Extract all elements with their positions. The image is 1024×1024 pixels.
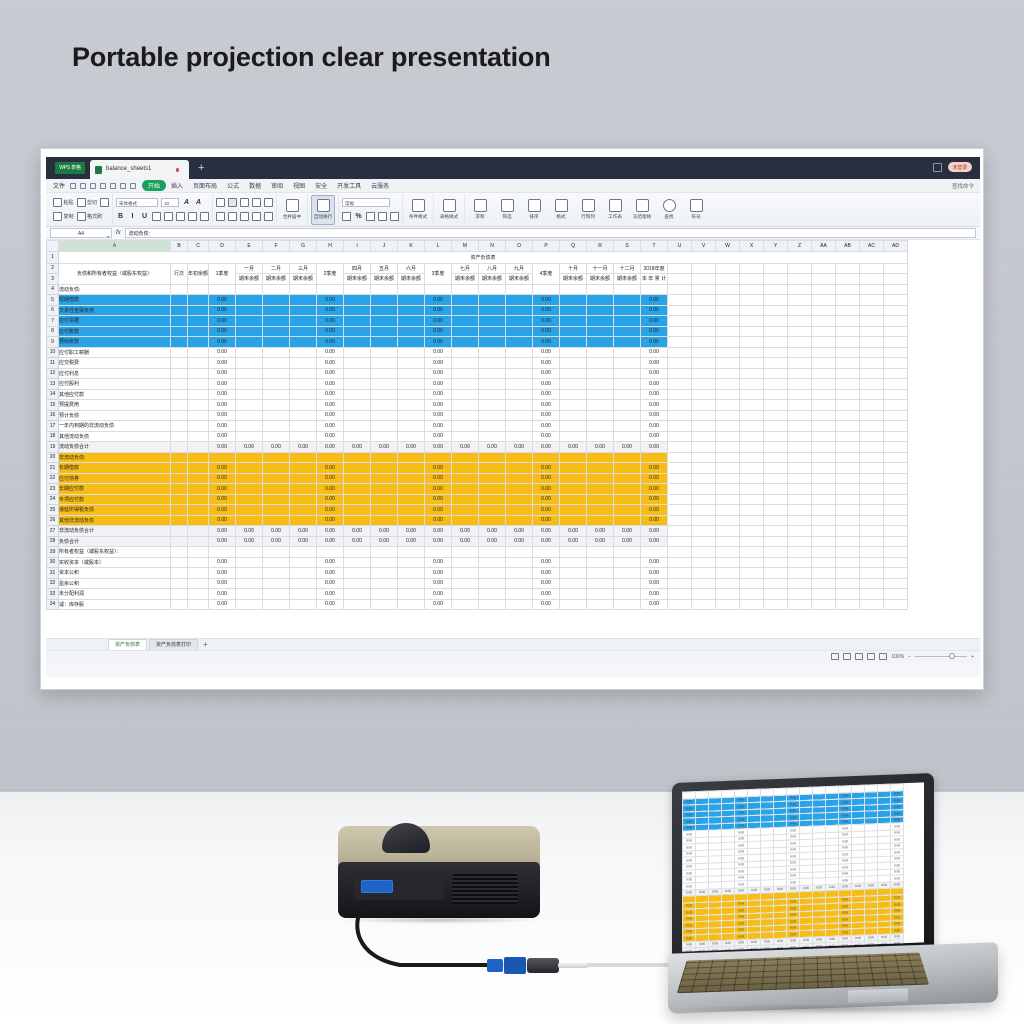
month-value-cell[interactable] <box>236 568 263 579</box>
quarter-value-cell[interactable]: 0.00 <box>533 568 560 579</box>
month-value-cell[interactable] <box>479 515 506 526</box>
empty-cell[interactable] <box>836 557 860 568</box>
month-value-cell[interactable] <box>560 295 587 306</box>
month-value-cell[interactable] <box>344 326 371 337</box>
quarter-value-cell[interactable]: 0.00 <box>533 316 560 327</box>
empty-cell[interactable] <box>716 515 740 526</box>
month-value-cell[interactable] <box>263 316 290 327</box>
menu-page-layout[interactable]: 页面布局 <box>188 181 222 190</box>
opening-balance-cell[interactable] <box>188 578 209 589</box>
empty-cell[interactable] <box>812 326 836 337</box>
month-value-cell[interactable] <box>614 599 641 610</box>
empty-cell[interactable] <box>740 463 764 474</box>
header-period-end[interactable]: 期末余额 <box>344 274 371 285</box>
month-value-cell[interactable] <box>371 547 398 558</box>
line-no-cell[interactable] <box>171 589 188 600</box>
month-value-cell[interactable] <box>398 347 425 358</box>
month-value-cell[interactable]: 0.00 <box>344 526 371 537</box>
quarter-value-cell[interactable]: 0.00 <box>209 484 236 495</box>
month-value-cell[interactable] <box>290 494 317 505</box>
empty-cell[interactable] <box>812 379 836 390</box>
empty-cell[interactable] <box>716 347 740 358</box>
quarter-value-cell[interactable]: 0.00 <box>425 505 452 516</box>
empty-cell[interactable] <box>716 337 740 348</box>
empty-cell[interactable] <box>692 400 716 411</box>
row-label[interactable]: 应付股利 <box>59 379 171 390</box>
header-quarter[interactable]: 2季度 <box>317 263 344 284</box>
row-label[interactable]: 短期借款 <box>59 295 171 306</box>
empty-cell[interactable] <box>764 494 788 505</box>
quarter-value-cell[interactable]: 0.00 <box>209 589 236 600</box>
month-value-cell[interactable] <box>371 379 398 390</box>
month-value-cell[interactable] <box>614 358 641 369</box>
quarter-value-cell[interactable]: 0.00 <box>209 568 236 579</box>
year-total-cell[interactable]: 0.00 <box>641 431 668 442</box>
month-value-cell[interactable] <box>506 473 533 484</box>
font-size-input[interactable]: 10 <box>161 198 179 207</box>
empty-cell[interactable] <box>812 515 836 526</box>
empty-cell[interactable] <box>884 599 908 610</box>
row-header-15[interactable]: 15 <box>47 400 59 411</box>
row-label[interactable]: 交易性金融负债 <box>59 305 171 316</box>
opening-balance-cell[interactable] <box>188 316 209 327</box>
row-label[interactable]: 其他非流动负债 <box>59 515 171 526</box>
empty-cell[interactable] <box>668 484 692 495</box>
empty-cell[interactable] <box>740 400 764 411</box>
empty-cell[interactable] <box>764 284 788 295</box>
empty-cell[interactable] <box>812 400 836 411</box>
empty-cell[interactable] <box>788 536 812 547</box>
opening-balance-cell[interactable] <box>188 463 209 474</box>
header-liabilities[interactable]: 负债和所有者权益（或股东权益） <box>59 263 171 284</box>
empty-cell[interactable] <box>836 337 860 348</box>
month-value-cell[interactable] <box>587 547 614 558</box>
format-button[interactable]: 格式 <box>549 195 573 225</box>
row-header-5[interactable]: 5 <box>47 295 59 306</box>
empty-cell[interactable] <box>812 494 836 505</box>
month-value-cell[interactable] <box>614 316 641 327</box>
empty-cell[interactable] <box>764 337 788 348</box>
quarter-value-cell[interactable]: 0.00 <box>209 473 236 484</box>
empty-cell[interactable] <box>860 568 884 579</box>
month-value-cell[interactable] <box>614 400 641 411</box>
month-value-cell[interactable] <box>290 463 317 474</box>
month-value-cell[interactable] <box>398 284 425 295</box>
month-value-cell[interactable]: 0.00 <box>344 536 371 547</box>
find-button[interactable]: 查找 <box>657 195 681 225</box>
empty-cell[interactable] <box>716 589 740 600</box>
month-value-cell[interactable] <box>344 316 371 327</box>
empty-cell[interactable] <box>740 284 764 295</box>
header-month[interactable]: 六月 <box>398 263 425 274</box>
month-value-cell[interactable] <box>506 547 533 558</box>
empty-cell[interactable] <box>764 578 788 589</box>
line-no-cell[interactable] <box>171 326 188 337</box>
quarter-value-cell[interactable]: 0.00 <box>533 463 560 474</box>
month-value-cell[interactable] <box>290 379 317 390</box>
empty-cell[interactable] <box>740 452 764 463</box>
header-period-end[interactable]: 期末余额 <box>452 274 479 285</box>
quarter-value-cell[interactable]: 0.00 <box>317 326 344 337</box>
empty-cell[interactable] <box>860 494 884 505</box>
line-no-cell[interactable] <box>171 599 188 610</box>
empty-cell[interactable] <box>692 284 716 295</box>
month-value-cell[interactable] <box>344 295 371 306</box>
opening-balance-cell[interactable] <box>188 599 209 610</box>
month-value-cell[interactable] <box>263 410 290 421</box>
month-value-cell[interactable]: 0.00 <box>371 526 398 537</box>
column-header-J[interactable]: J <box>371 241 398 252</box>
opening-balance-cell[interactable] <box>188 400 209 411</box>
month-value-cell[interactable] <box>587 452 614 463</box>
month-value-cell[interactable] <box>263 484 290 495</box>
quarter-value-cell[interactable]: 0.00 <box>317 515 344 526</box>
empty-cell[interactable] <box>884 305 908 316</box>
empty-cell[interactable] <box>740 578 764 589</box>
empty-cell[interactable] <box>836 389 860 400</box>
header-month[interactable]: 十月 <box>560 263 587 274</box>
month-value-cell[interactable] <box>236 463 263 474</box>
year-total-cell[interactable]: 0.00 <box>641 589 668 600</box>
empty-cell[interactable] <box>836 568 860 579</box>
quarter-value-cell[interactable]: 0.00 <box>209 536 236 547</box>
row-header-18[interactable]: 18 <box>47 431 59 442</box>
empty-cell[interactable] <box>668 442 692 453</box>
empty-cell[interactable] <box>812 358 836 369</box>
month-value-cell[interactable] <box>560 337 587 348</box>
month-value-cell[interactable]: 0.00 <box>344 442 371 453</box>
line-no-cell[interactable] <box>171 400 188 411</box>
quarter-value-cell[interactable]: 0.00 <box>533 337 560 348</box>
opening-balance-cell[interactable] <box>188 421 209 432</box>
month-value-cell[interactable] <box>371 347 398 358</box>
row-label[interactable]: 递延所得税负债 <box>59 505 171 516</box>
empty-cell[interactable] <box>788 263 812 274</box>
wrap-text-button[interactable]: 自动换行 <box>311 195 335 225</box>
month-value-cell[interactable] <box>263 305 290 316</box>
empty-cell[interactable] <box>812 547 836 558</box>
line-no-cell[interactable] <box>171 473 188 484</box>
month-value-cell[interactable] <box>263 368 290 379</box>
decrease-indent-icon[interactable] <box>252 198 261 207</box>
month-value-cell[interactable] <box>452 400 479 411</box>
empty-cell[interactable] <box>860 389 884 400</box>
quarter-value-cell[interactable]: 0.00 <box>317 484 344 495</box>
empty-cell[interactable] <box>764 515 788 526</box>
month-value-cell[interactable] <box>344 484 371 495</box>
month-value-cell[interactable] <box>614 347 641 358</box>
month-value-cell[interactable] <box>479 484 506 495</box>
menu-formulas[interactable]: 公式 <box>222 181 244 190</box>
month-value-cell[interactable] <box>290 368 317 379</box>
row-label[interactable]: 所有者权益（或股东权益）： <box>59 547 171 558</box>
empty-cell[interactable] <box>788 421 812 432</box>
column-header-Q[interactable]: Q <box>560 241 587 252</box>
empty-cell[interactable] <box>740 410 764 421</box>
empty-cell[interactable] <box>668 295 692 306</box>
row-header-9[interactable]: 9 <box>47 337 59 348</box>
month-value-cell[interactable]: 0.00 <box>371 442 398 453</box>
row-label[interactable]: 长期借款 <box>59 463 171 474</box>
month-value-cell[interactable] <box>587 578 614 589</box>
month-value-cell[interactable] <box>263 421 290 432</box>
month-value-cell[interactable] <box>371 505 398 516</box>
month-value-cell[interactable] <box>614 431 641 442</box>
page-layout-view-icon[interactable] <box>843 653 851 660</box>
empty-cell[interactable] <box>836 274 860 285</box>
month-value-cell[interactable]: 0.00 <box>236 526 263 537</box>
month-value-cell[interactable] <box>479 358 506 369</box>
align-right-icon[interactable] <box>240 212 249 221</box>
month-value-cell[interactable] <box>506 452 533 463</box>
month-value-cell[interactable]: 0.00 <box>614 536 641 547</box>
quarter-value-cell[interactable]: 0.00 <box>425 400 452 411</box>
font-name-input[interactable]: 宋体格式 <box>116 198 158 207</box>
quarter-value-cell[interactable]: 0.00 <box>317 578 344 589</box>
month-value-cell[interactable] <box>560 452 587 463</box>
empty-cell[interactable] <box>836 326 860 337</box>
month-value-cell[interactable] <box>371 295 398 306</box>
filter-button[interactable]: 筛选 <box>495 195 519 225</box>
line-no-cell[interactable] <box>171 547 188 558</box>
empty-cell[interactable] <box>812 442 836 453</box>
quarter-value-cell[interactable]: 0.00 <box>209 463 236 474</box>
empty-cell[interactable] <box>668 557 692 568</box>
quarter-value-cell[interactable]: 0.00 <box>209 347 236 358</box>
empty-cell[interactable] <box>668 368 692 379</box>
row-header-6[interactable]: 6 <box>47 305 59 316</box>
empty-cell[interactable] <box>860 547 884 558</box>
month-value-cell[interactable] <box>479 326 506 337</box>
month-value-cell[interactable] <box>452 473 479 484</box>
empty-cell[interactable] <box>836 452 860 463</box>
increase-decimal-icon[interactable] <box>378 212 387 221</box>
line-no-cell[interactable] <box>171 505 188 516</box>
empty-cell[interactable] <box>860 410 884 421</box>
row-label[interactable]: 应付票据 <box>59 316 171 327</box>
empty-cell[interactable] <box>788 347 812 358</box>
symbol-button[interactable]: 符号 <box>684 195 708 225</box>
column-header-AC[interactable]: AC <box>860 241 884 252</box>
empty-cell[interactable] <box>692 494 716 505</box>
quarter-value-cell[interactable]: 0.00 <box>317 599 344 610</box>
header-month[interactable]: 十二月 <box>614 263 641 274</box>
month-value-cell[interactable] <box>452 452 479 463</box>
month-value-cell[interactable] <box>614 379 641 390</box>
empty-cell[interactable] <box>884 410 908 421</box>
year-total-cell[interactable]: 0.00 <box>641 326 668 337</box>
month-value-cell[interactable] <box>479 389 506 400</box>
menu-file[interactable]: 文件 <box>53 181 65 190</box>
empty-cell[interactable] <box>860 274 884 285</box>
quarter-value-cell[interactable]: 0.00 <box>425 295 452 306</box>
format-painter-label[interactable]: 格式刷 <box>77 212 103 221</box>
quarter-value-cell[interactable]: 0.00 <box>425 389 452 400</box>
empty-cell[interactable] <box>740 326 764 337</box>
empty-cell[interactable] <box>836 505 860 516</box>
opening-balance-cell[interactable] <box>188 494 209 505</box>
empty-cell[interactable] <box>692 305 716 316</box>
month-value-cell[interactable] <box>371 284 398 295</box>
empty-cell[interactable] <box>836 484 860 495</box>
column-header-I[interactable]: I <box>344 241 371 252</box>
sheet-tab-balance[interactable]: 资产负债表 <box>108 639 147 651</box>
column-header-B[interactable]: B <box>171 241 188 252</box>
column-header-E[interactable]: E <box>236 241 263 252</box>
month-value-cell[interactable] <box>587 347 614 358</box>
quarter-value-cell[interactable]: 0.00 <box>209 337 236 348</box>
month-value-cell[interactable] <box>479 410 506 421</box>
empty-cell[interactable] <box>764 274 788 285</box>
empty-cell[interactable] <box>884 295 908 306</box>
empty-cell[interactable] <box>692 463 716 474</box>
row-header-29[interactable]: 29 <box>47 547 59 558</box>
month-value-cell[interactable] <box>506 379 533 390</box>
line-no-cell[interactable] <box>171 452 188 463</box>
empty-cell[interactable] <box>788 358 812 369</box>
comma-format-icon[interactable] <box>366 212 375 221</box>
empty-cell[interactable] <box>716 526 740 537</box>
line-no-cell[interactable] <box>171 295 188 306</box>
empty-cell[interactable] <box>836 358 860 369</box>
line-no-cell[interactable] <box>171 557 188 568</box>
row-label[interactable]: 减：库存股 <box>59 599 171 610</box>
opening-balance-cell[interactable] <box>188 557 209 568</box>
quarter-value-cell[interactable]: 0.00 <box>209 557 236 568</box>
month-value-cell[interactable] <box>452 358 479 369</box>
empty-cell[interactable] <box>692 526 716 537</box>
quarter-value-cell[interactable]: 0.00 <box>533 536 560 547</box>
month-value-cell[interactable] <box>614 452 641 463</box>
month-value-cell[interactable] <box>560 515 587 526</box>
cut-button[interactable]: 剪切 <box>77 198 98 207</box>
month-value-cell[interactable] <box>398 431 425 442</box>
empty-cell[interactable] <box>860 473 884 484</box>
quarter-value-cell[interactable] <box>533 547 560 558</box>
empty-cell[interactable] <box>764 442 788 453</box>
sheet-title-cell[interactable]: 资产负债表 <box>59 251 908 263</box>
month-value-cell[interactable] <box>344 284 371 295</box>
empty-cell[interactable] <box>884 421 908 432</box>
quarter-value-cell[interactable]: 0.00 <box>533 494 560 505</box>
month-value-cell[interactable] <box>587 494 614 505</box>
empty-cell[interactable] <box>812 431 836 442</box>
month-value-cell[interactable] <box>344 337 371 348</box>
empty-cell[interactable] <box>860 599 884 610</box>
empty-cell[interactable] <box>692 599 716 610</box>
empty-cell[interactable] <box>836 599 860 610</box>
increase-font-size-icon[interactable]: A <box>182 198 191 207</box>
year-total-cell[interactable] <box>641 452 668 463</box>
month-value-cell[interactable] <box>452 316 479 327</box>
header-month[interactable]: 一月 <box>236 263 263 274</box>
percent-format-icon[interactable]: % <box>354 212 363 221</box>
month-value-cell[interactable] <box>479 431 506 442</box>
month-value-cell[interactable] <box>506 347 533 358</box>
empty-cell[interactable] <box>812 568 836 579</box>
year-total-cell[interactable]: 0.00 <box>641 599 668 610</box>
year-total-cell[interactable]: 0.00 <box>641 400 668 411</box>
month-value-cell[interactable] <box>398 337 425 348</box>
empty-cell[interactable] <box>788 557 812 568</box>
empty-cell[interactable] <box>764 536 788 547</box>
month-value-cell[interactable] <box>452 337 479 348</box>
empty-cell[interactable] <box>764 505 788 516</box>
quarter-value-cell[interactable]: 0.00 <box>533 389 560 400</box>
month-value-cell[interactable] <box>587 400 614 411</box>
month-value-cell[interactable] <box>398 326 425 337</box>
empty-cell[interactable] <box>740 347 764 358</box>
month-value-cell[interactable] <box>371 326 398 337</box>
empty-cell[interactable] <box>740 379 764 390</box>
number-format-select[interactable]: 常规 <box>342 198 390 207</box>
empty-cell[interactable] <box>836 421 860 432</box>
month-value-cell[interactable] <box>290 557 317 568</box>
quarter-value-cell[interactable]: 0.00 <box>533 347 560 358</box>
empty-cell[interactable] <box>716 473 740 484</box>
empty-cell[interactable] <box>788 305 812 316</box>
empty-cell[interactable] <box>836 368 860 379</box>
row-label[interactable]: 长期应付款 <box>59 484 171 495</box>
empty-cell[interactable] <box>788 400 812 411</box>
quarter-value-cell[interactable]: 0.00 <box>209 494 236 505</box>
document-tab[interactable]: balance_sheets1 <box>90 160 189 179</box>
month-value-cell[interactable] <box>236 316 263 327</box>
month-value-cell[interactable] <box>263 326 290 337</box>
empty-cell[interactable] <box>668 316 692 327</box>
spreadsheet-grid[interactable]: ABCDEFGHIJKLMNOPQRSTUVWXYZAAABACAD 1资产负债… <box>46 240 980 638</box>
month-value-cell[interactable] <box>560 557 587 568</box>
month-value-cell[interactable] <box>398 494 425 505</box>
quarter-value-cell[interactable]: 0.00 <box>317 589 344 600</box>
row-header-28[interactable]: 28 <box>47 536 59 547</box>
month-value-cell[interactable] <box>587 431 614 442</box>
align-left-icon[interactable] <box>216 212 225 221</box>
row-header-32[interactable]: 32 <box>47 578 59 589</box>
empty-cell[interactable] <box>860 442 884 453</box>
month-value-cell[interactable]: 0.00 <box>398 442 425 453</box>
empty-cell[interactable] <box>860 431 884 442</box>
empty-cell[interactable] <box>692 452 716 463</box>
year-total-cell[interactable]: 0.00 <box>641 295 668 306</box>
row-label[interactable]: 非流动负债: <box>59 452 171 463</box>
quarter-value-cell[interactable]: 0.00 <box>533 368 560 379</box>
month-value-cell[interactable] <box>371 389 398 400</box>
month-value-cell[interactable] <box>236 547 263 558</box>
empty-cell[interactable] <box>668 578 692 589</box>
justify-icon[interactable] <box>252 212 261 221</box>
sort-button[interactable]: 排序 <box>522 195 546 225</box>
month-value-cell[interactable] <box>290 484 317 495</box>
header-period-end[interactable]: 期末余额 <box>398 274 425 285</box>
row-header-30[interactable]: 30 <box>47 557 59 568</box>
month-value-cell[interactable] <box>344 463 371 474</box>
empty-cell[interactable] <box>764 263 788 274</box>
month-value-cell[interactable] <box>371 463 398 474</box>
empty-cell[interactable] <box>836 284 860 295</box>
column-header-R[interactable]: R <box>587 241 614 252</box>
month-value-cell[interactable] <box>506 305 533 316</box>
row-header-10[interactable]: 10 <box>47 347 59 358</box>
empty-cell[interactable] <box>836 400 860 411</box>
quarter-value-cell[interactable] <box>317 547 344 558</box>
empty-cell[interactable] <box>764 568 788 579</box>
empty-cell[interactable] <box>692 337 716 348</box>
month-value-cell[interactable] <box>290 547 317 558</box>
align-middle-icon[interactable] <box>228 198 237 207</box>
empty-cell[interactable] <box>788 515 812 526</box>
empty-cell[interactable] <box>884 284 908 295</box>
